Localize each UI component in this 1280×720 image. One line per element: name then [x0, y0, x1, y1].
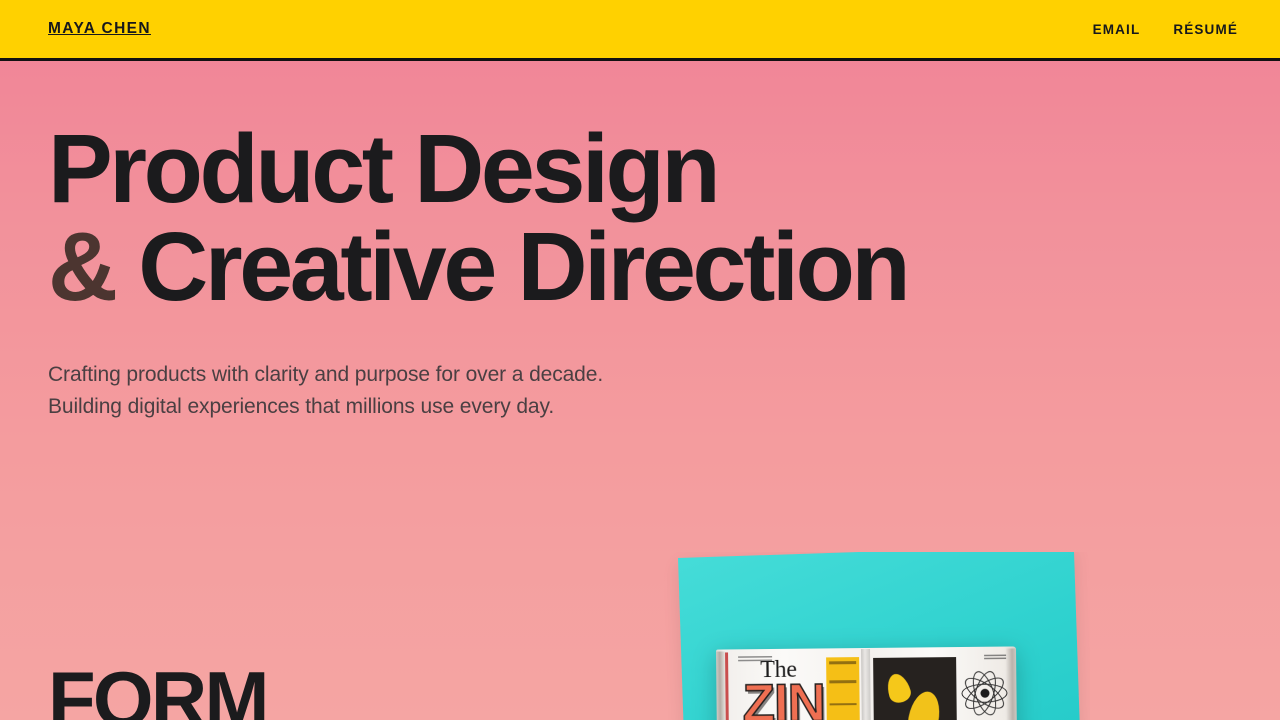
hero-subtitle-line-1: Crafting products with clarity and purpo…	[48, 359, 1280, 391]
magazine-left-page: The ZIN	[716, 648, 866, 720]
hero-title-line-2-text: Creative Direction	[115, 212, 908, 321]
nav-link-resume[interactable]: RÉSUMÉ	[1173, 22, 1238, 37]
page-title: Product Design & Creative Direction	[0, 61, 1280, 315]
hero-subtitle: Crafting products with clarity and purpo…	[0, 315, 1280, 423]
primary-navigation: EMAIL RÉSUMÉ	[1093, 22, 1238, 37]
brand-logo[interactable]: MAYA CHEN	[48, 21, 151, 37]
magazine-dark-panel	[873, 657, 957, 720]
hero-section: Product Design & Creative Direction Craf…	[0, 61, 1280, 423]
magazine-photo: The ZIN	[660, 552, 1090, 720]
magazine-right-page	[865, 646, 1017, 720]
hero-title-line-2: & Creative Direction	[48, 217, 1280, 315]
magazine-spine	[861, 649, 871, 720]
magazine-title-word: ZIN	[742, 680, 825, 720]
yellow-droplet-large-icon	[906, 689, 944, 720]
hero-title-ampersand: &	[48, 212, 115, 321]
page-red-stripe	[725, 652, 729, 720]
magazine-folio-text	[984, 655, 1006, 661]
yellow-droplet-icon	[884, 671, 913, 705]
magazine-yellow-column	[826, 657, 860, 720]
section-heading-form: FORM	[48, 668, 267, 720]
hero-title-line-1: Product Design	[48, 61, 1280, 217]
atom-diagram-icon	[960, 669, 1009, 718]
site-header: MAYA CHEN EMAIL RÉSUMÉ	[0, 0, 1280, 61]
nav-link-email[interactable]: EMAIL	[1093, 22, 1141, 37]
hero-subtitle-line-2: Building digital experiences that millio…	[48, 391, 1280, 423]
open-magazine: The ZIN	[716, 646, 1017, 720]
